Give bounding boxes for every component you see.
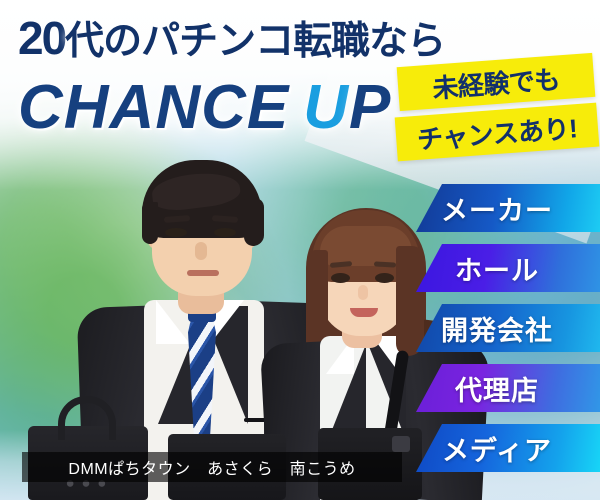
category-button-agency[interactable]: 代理店 (416, 364, 600, 412)
category-button-hall[interactable]: ホール (416, 244, 600, 292)
man-eye-left (165, 228, 187, 237)
badge-no-experience-label: 未経験でも (431, 59, 561, 105)
logo-wordmark: CHANCE UP (18, 72, 391, 143)
woman-eye-right (375, 273, 394, 283)
woman-eyebrow-right (374, 261, 396, 267)
logo-up-letter-p: P (349, 73, 391, 142)
logo-up-letter-u: U (303, 73, 349, 142)
category-button-maker[interactable]: メーカー (416, 184, 600, 232)
category-button-media[interactable]: メディア (416, 424, 600, 472)
category-label-agency: 代理店 (455, 369, 539, 408)
category-label-maker: メーカー (441, 189, 553, 228)
logo-chance-text: CHANCE (18, 72, 289, 143)
credit-text: DMMぱちタウン あさくら 南こうめ (68, 455, 355, 479)
category-label-developer: 開発会社 (441, 309, 553, 348)
man-nose (195, 242, 207, 260)
category-button-developer[interactable]: 開発会社 (416, 304, 600, 352)
badge-chance-available-label: チャンスあり! (416, 108, 579, 157)
woman-nose (358, 285, 368, 300)
credit-bar: DMMぱちタウン あさくら 南こうめ (22, 452, 402, 482)
headline-number: 20 (18, 12, 65, 64)
woman-eye-left (331, 273, 350, 283)
woman-hair-side-left (308, 250, 328, 332)
man-eye-right (214, 228, 236, 237)
man-mouth (187, 270, 219, 276)
recruitment-banner: 20代のパチンコ転職なら CHANCE UP 未経験でも チャンスあり! メーカ… (0, 0, 600, 500)
woman-hair-side-right (396, 246, 424, 356)
man-hair-sideburn-left (142, 202, 158, 244)
page-title: 20代のパチンコ転職なら (18, 14, 438, 63)
logo-up-text: UP (303, 72, 391, 143)
category-label-media: メディア (442, 429, 552, 468)
man-hair-sideburn-right (244, 198, 264, 246)
headline-rest: 代のパチンコ転職なら (65, 20, 445, 63)
briefcase-right-clip (392, 436, 410, 452)
category-label-hall: ホール (455, 249, 539, 288)
